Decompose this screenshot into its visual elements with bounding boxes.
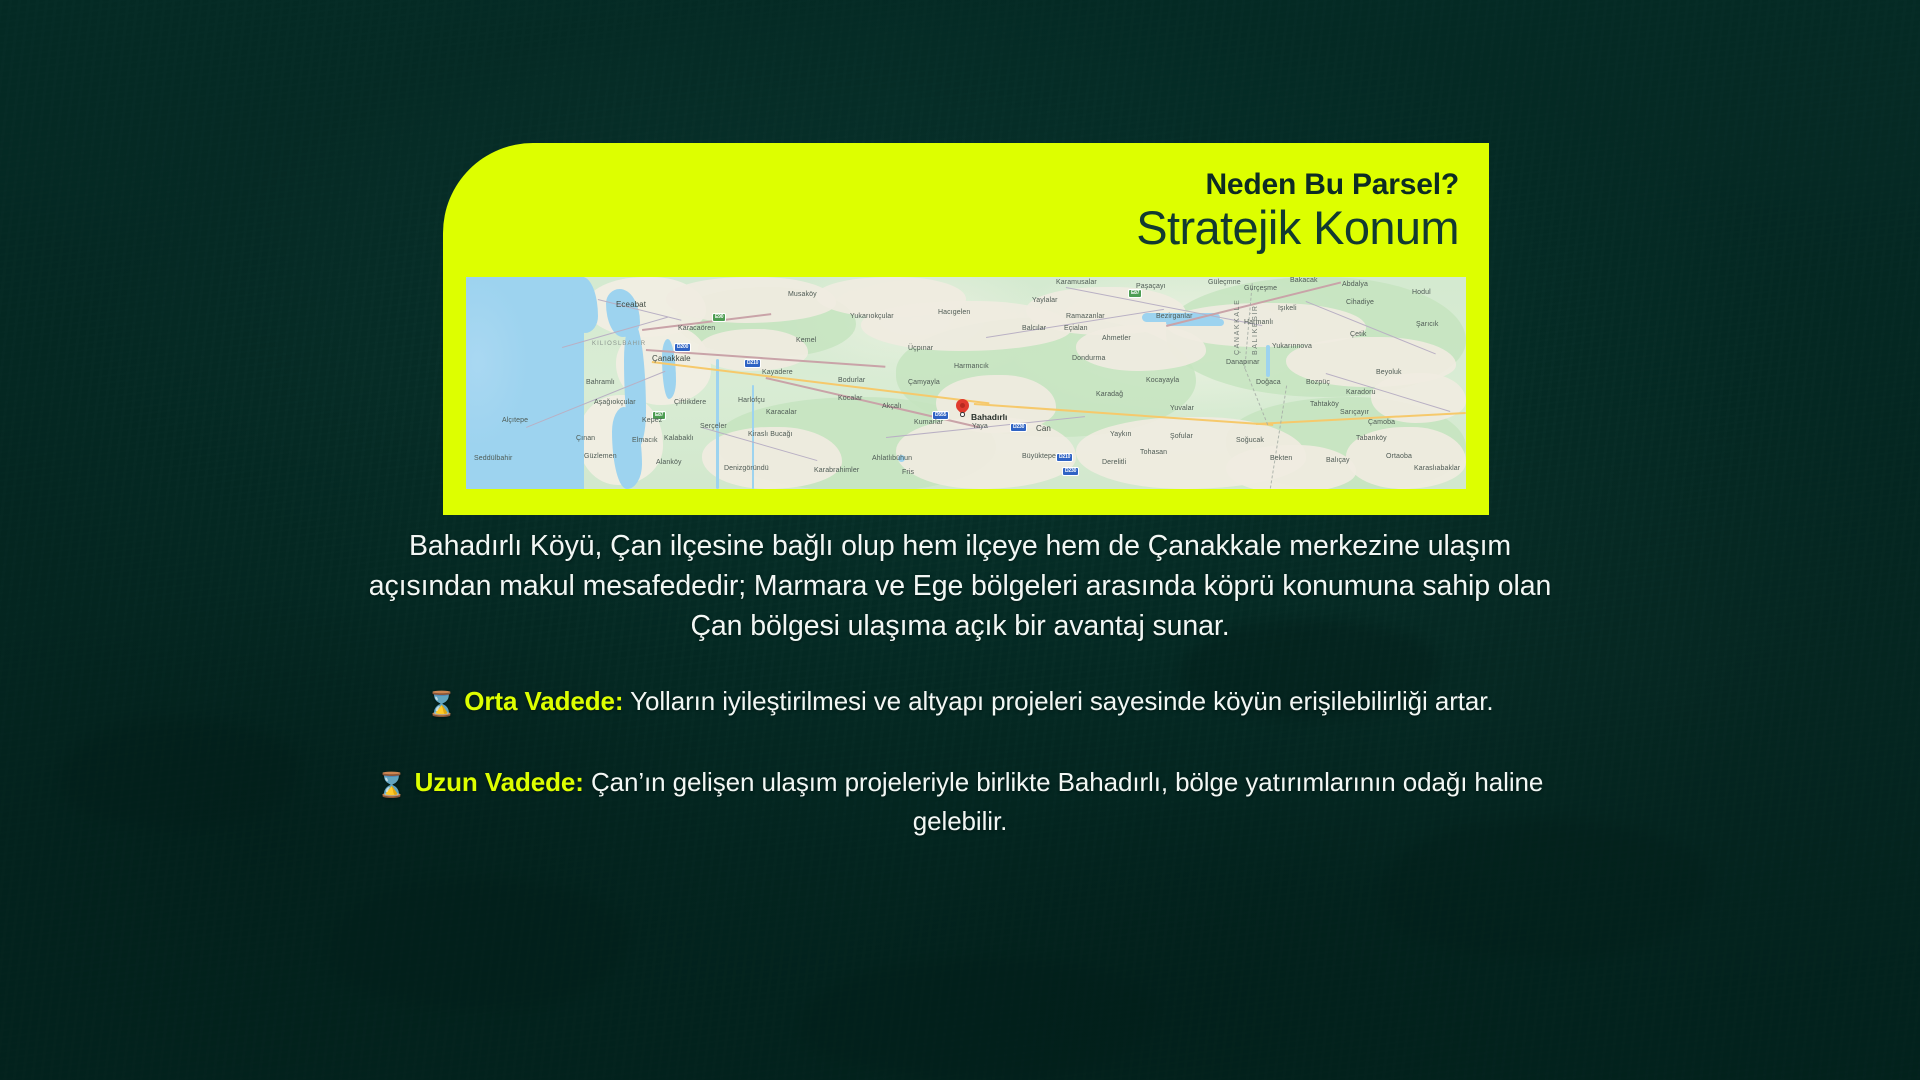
- map-place-label: Kiraslı Bucağı: [748, 431, 793, 438]
- map-place-label: Karacalar: [766, 409, 797, 416]
- map-place-label: Paşaçayı: [1136, 283, 1166, 290]
- map-place-label: Karadoru: [1346, 389, 1376, 396]
- map-place-label: Tohasan: [1140, 449, 1167, 456]
- map-place-label: Doğaca: [1256, 379, 1281, 386]
- map-place-label: Tahtaköy: [1310, 401, 1339, 408]
- map-place-label: Aşağıokçular: [594, 399, 636, 406]
- map-terrain-blob: [1226, 445, 1356, 489]
- map-place-label: Büyüktepe: [1022, 453, 1056, 460]
- map-place-label: Yukarıokçular: [850, 313, 894, 320]
- strategic-location-card: Neden Bu Parsel? Stratejik Konum: [443, 143, 1489, 515]
- map-place-label: Ahlatlıbühun: [872, 455, 912, 462]
- map-place-label: Can: [1036, 425, 1051, 433]
- lede-paragraph: Bahadırlı Köyü, Çan ilçesine bağlı olup …: [360, 527, 1560, 647]
- map-place-label: Hacıgelen: [938, 309, 970, 316]
- map-place-label: Işıkeli: [1278, 305, 1297, 312]
- map-place-label: Güzlemen: [584, 453, 617, 460]
- map-shield: E87: [1128, 289, 1142, 298]
- map-river: [1266, 345, 1270, 377]
- map-place-label: Hodul: [1412, 289, 1431, 296]
- map-region-label: KILIOSLBAHIR: [592, 341, 646, 347]
- map-place-label: Danapınar: [1226, 359, 1260, 366]
- map-marker-label: Bahadırlı: [971, 412, 1007, 422]
- map-place-label: Ramazanlar: [1066, 313, 1105, 320]
- map-place-label: Tabanköy: [1356, 435, 1387, 442]
- map-place-label: Balıçay: [1326, 457, 1350, 464]
- hourglass-icon: ⌛: [377, 772, 407, 799]
- map-place-label: Karamusalar: [1056, 279, 1097, 286]
- map-place-label: Yuvalar: [1170, 405, 1194, 412]
- map-place-label: Karaslıabaklar: [1414, 465, 1460, 472]
- map-place-label: Musaköy: [788, 291, 817, 298]
- map-place-label: Çamoba: [1368, 419, 1395, 426]
- card-heading-group: Neden Bu Parsel? Stratejik Konum: [443, 143, 1489, 255]
- map-place-label: Kemel: [796, 337, 816, 344]
- map-place-label: Kocalar: [838, 395, 862, 402]
- map-place-label: Güleçmne: [1208, 279, 1241, 286]
- map-place-label: Kayadere: [762, 369, 793, 376]
- slide-root: Neden Bu Parsel? Stratejik Konum: [0, 0, 1920, 1080]
- map-place-label: Çiftlikdere: [674, 399, 706, 406]
- location-map[interactable]: E90 D200 D210 E87 E87 D555 D230 D210 D23…: [466, 277, 1466, 489]
- map-place-label: Eceabat: [616, 301, 646, 309]
- map-place-label: Ortaoba: [1386, 453, 1412, 460]
- map-place-label: Balcılar: [1022, 325, 1046, 332]
- map-place-label: Bahramlı: [586, 379, 615, 386]
- map-place-label: Fris: [902, 469, 914, 476]
- map-marker-bahadirli[interactable]: Bahadırlı: [956, 399, 969, 412]
- map-place-label: Kumarlar: [914, 419, 943, 426]
- map-place-label: Derelitli: [1102, 459, 1126, 466]
- map-place-label: Denizgöründü: [724, 465, 769, 472]
- map-place-label: Yaya: [972, 423, 988, 430]
- map-shield: D200: [674, 343, 691, 352]
- map-shield: D230: [1010, 423, 1027, 432]
- map-place-label: Kocayayla: [1146, 377, 1179, 384]
- card-headline: Stratejik Konum: [443, 202, 1459, 255]
- map-place-label: Çanakkale: [652, 355, 691, 363]
- map-place-label: Bodurlar: [838, 377, 865, 384]
- map-place-label: Çınan: [576, 435, 595, 442]
- map-place-label: Yukarınnova: [1272, 343, 1312, 350]
- description-block: Bahadırlı Köyü, Çan ilçesine bağlı olup …: [360, 527, 1560, 840]
- map-place-label: Harlofçu: [738, 397, 765, 404]
- map-place-label: Eçialan: [1064, 325, 1088, 332]
- map-place-label: Sarıçayır: [1340, 409, 1369, 416]
- map-canvas: E90 D200 D210 E87 E87 D555 D230 D210 D23…: [466, 277, 1466, 489]
- map-place-label: Beyoluk: [1376, 369, 1402, 376]
- map-place-label: Harmancık: [954, 363, 989, 370]
- map-place-label: Karadağ: [1096, 391, 1123, 398]
- bullet-term: Orta Vadede:: [464, 686, 623, 716]
- map-place-label: Bekten: [1270, 455, 1292, 462]
- map-shield: E90: [712, 313, 726, 322]
- map-place-label: Şarıcık: [1416, 321, 1438, 328]
- bullet-orta-vadede: ⌛Orta Vadede: Yolların iyileştirilmesi v…: [360, 683, 1560, 722]
- map-place-label: Serçeler: [700, 423, 727, 430]
- map-place-label: Ahmetler: [1102, 335, 1131, 342]
- map-place-label: Yaylalar: [1032, 297, 1058, 304]
- map-place-label: Abdalya: [1342, 281, 1368, 288]
- map-place-label: Bezirganlar: [1156, 313, 1193, 320]
- map-place-label: Üçpınar: [908, 345, 933, 352]
- map-place-label: Karacaören: [678, 325, 715, 332]
- bullet-uzun-vadede: ⌛Uzun Vadede: Çan’ın gelişen ulaşım proj…: [360, 764, 1560, 840]
- map-place-label: Şofular: [1170, 433, 1193, 440]
- map-province-label: ÇANAKKALE: [1234, 299, 1241, 355]
- hourglass-icon: ⌛: [426, 691, 456, 718]
- map-place-label: Yaykın: [1110, 431, 1131, 438]
- map-place-label: Dondurma: [1072, 355, 1105, 362]
- map-place-label: Cihadiye: [1346, 299, 1374, 306]
- bullet-term: Uzun Vadede:: [415, 767, 584, 797]
- map-place-label: Kalabaklı: [664, 435, 694, 442]
- map-place-label: Çetik: [1350, 331, 1366, 338]
- card-eyebrow: Neden Bu Parsel?: [443, 169, 1459, 200]
- map-place-label: Alçıtepe: [502, 417, 528, 424]
- map-place-label: Karabrahimler: [814, 467, 859, 474]
- map-province-label: BALIKESİR: [1252, 304, 1259, 355]
- map-place-label: Bozpüç: [1306, 379, 1330, 386]
- map-place-label: Elmacık: [632, 437, 658, 444]
- map-place-label: Alanköy: [656, 459, 682, 466]
- bullet-text: Yolların iyileştirilmesi ve altyapı proj…: [623, 686, 1493, 716]
- map-place-label: Kepez: [642, 417, 662, 424]
- map-place-label: Çamyayla: [908, 379, 940, 386]
- map-shield: D210: [744, 359, 761, 368]
- map-pin-dot-icon: [960, 412, 965, 417]
- bullet-text: Çan’ın gelişen ulaşım projeleriyle birli…: [584, 767, 1543, 836]
- map-place-label: Seddülbahir: [474, 455, 512, 462]
- map-place-label: Soğucak: [1236, 437, 1264, 444]
- map-place-label: Gürçeşme: [1244, 285, 1277, 292]
- map-place-label: Bakacak: [1290, 277, 1318, 284]
- map-place-label: Akçalı: [882, 403, 902, 410]
- map-shield: D230: [1062, 467, 1079, 476]
- map-shield: D210: [1056, 453, 1073, 462]
